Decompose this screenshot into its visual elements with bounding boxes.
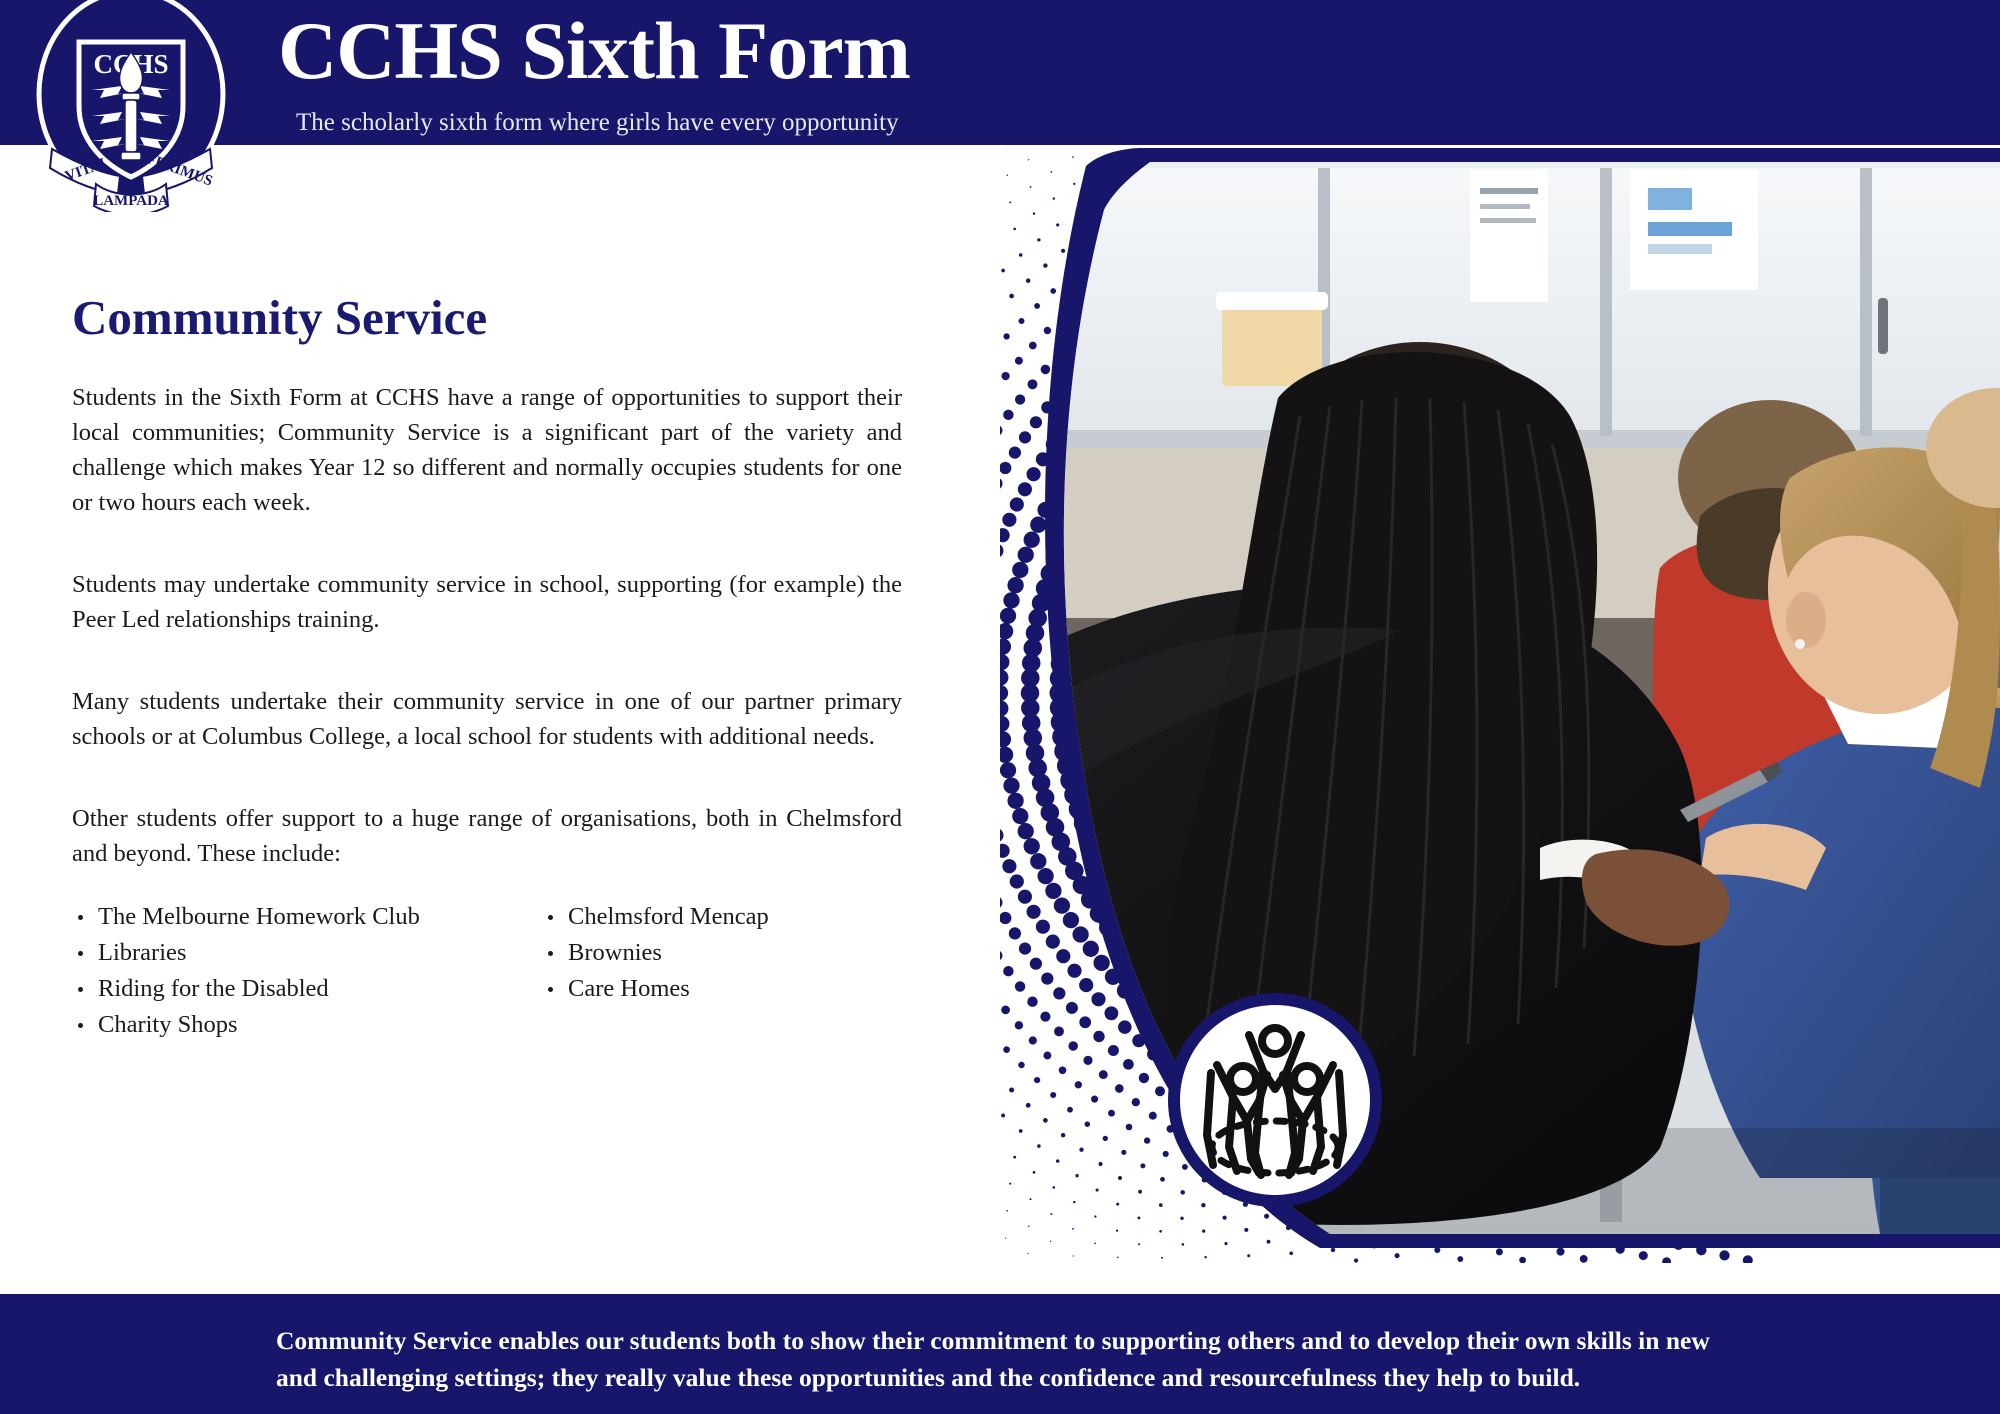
poster-page: CCHS Sixth Form The scholarly sixth form… (0, 0, 2000, 1414)
paragraph-3: Many students undertake their community … (72, 684, 902, 754)
page-header: CCHS Sixth Form The scholarly sixth form… (0, 0, 2000, 145)
list-item: Libraries (72, 935, 542, 971)
list-item: Chelmsford Mencap (542, 899, 872, 935)
page-title-header: CCHS Sixth Form (278, 5, 910, 97)
list-item: Charity Shops (72, 1007, 542, 1043)
footer-statement: Community Service enables our students b… (276, 1322, 1746, 1396)
header-subtitle: The scholarly sixth form where girls hav… (296, 108, 899, 138)
paragraph-1: Students in the Sixth Form at CCHS have … (72, 380, 902, 520)
section-heading: Community Service (72, 290, 902, 346)
list-item: Care Homes (542, 971, 872, 1007)
organisations-column-1: The Melbourne Homework Club Libraries Ri… (72, 899, 542, 1043)
paragraph-4: Other students offer support to a huge r… (72, 801, 902, 871)
main-content: Community Service Students in the Sixth … (72, 290, 902, 1043)
crest-motto-center: LAMPADA (93, 193, 169, 209)
list-item: Brownies (542, 935, 872, 971)
classroom-photo (1000, 148, 2000, 1263)
photo-panel (1000, 148, 2000, 1263)
community-service-badge (1155, 985, 1395, 1215)
paragraph-2: Students may undertake community service… (72, 567, 902, 637)
list-item: The Melbourne Homework Club (72, 899, 542, 935)
page-footer: Community Service enables our students b… (0, 1294, 2000, 1414)
school-crest-logo: CCHS (34, 0, 229, 212)
list-item: Riding for the Disabled (72, 971, 542, 1007)
organisations-list: The Melbourne Homework Club Libraries Ri… (72, 899, 902, 1043)
organisations-column-2: Chelmsford Mencap Brownies Care Homes (542, 899, 872, 1043)
